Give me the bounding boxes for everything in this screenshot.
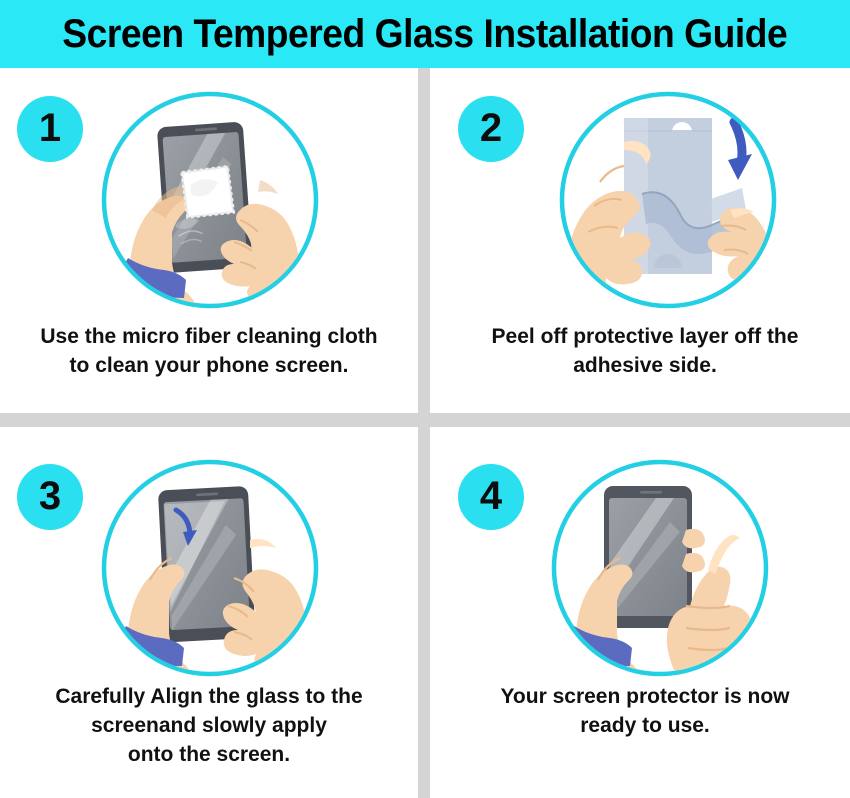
step-panel-4: 4 (430, 440, 848, 790)
page-title: Screen Tempered Glass Installation Guide (63, 12, 788, 56)
step-panel-1: 1 (0, 72, 418, 402)
step-caption-3: Carefully Align the glass to the screena… (14, 682, 404, 769)
step-badge-3: 3 (17, 464, 83, 530)
step-illustration-2 (558, 90, 778, 310)
step-caption-2: Peel off protective layer off the adhesi… (450, 322, 840, 380)
step-panel-2: 2 (430, 72, 848, 402)
step-number-label: 2 (480, 108, 502, 148)
horizontal-divider-gap-left (0, 403, 418, 413)
step-illustration-1 (100, 90, 320, 310)
step-number-label: 3 (39, 476, 61, 516)
step-badge-4: 4 (458, 464, 524, 530)
header-band: Screen Tempered Glass Installation Guide (0, 0, 850, 68)
vertical-divider (418, 68, 430, 798)
installation-guide-page: Screen Tempered Glass Installation Guide… (0, 0, 850, 798)
step-caption-1: Use the micro fiber cleaning cloth to cl… (14, 322, 404, 380)
step-number-label: 1 (39, 108, 61, 148)
step-badge-2: 2 (458, 96, 524, 162)
horizontal-divider-gap-right (430, 403, 850, 413)
step-illustration-3 (100, 458, 320, 678)
step-number-label: 4 (480, 476, 502, 516)
step-panel-3: 3 (0, 440, 418, 790)
step-caption-4: Your screen protector is now ready to us… (450, 682, 840, 740)
step-badge-1: 1 (17, 96, 83, 162)
step-illustration-4 (550, 458, 770, 678)
